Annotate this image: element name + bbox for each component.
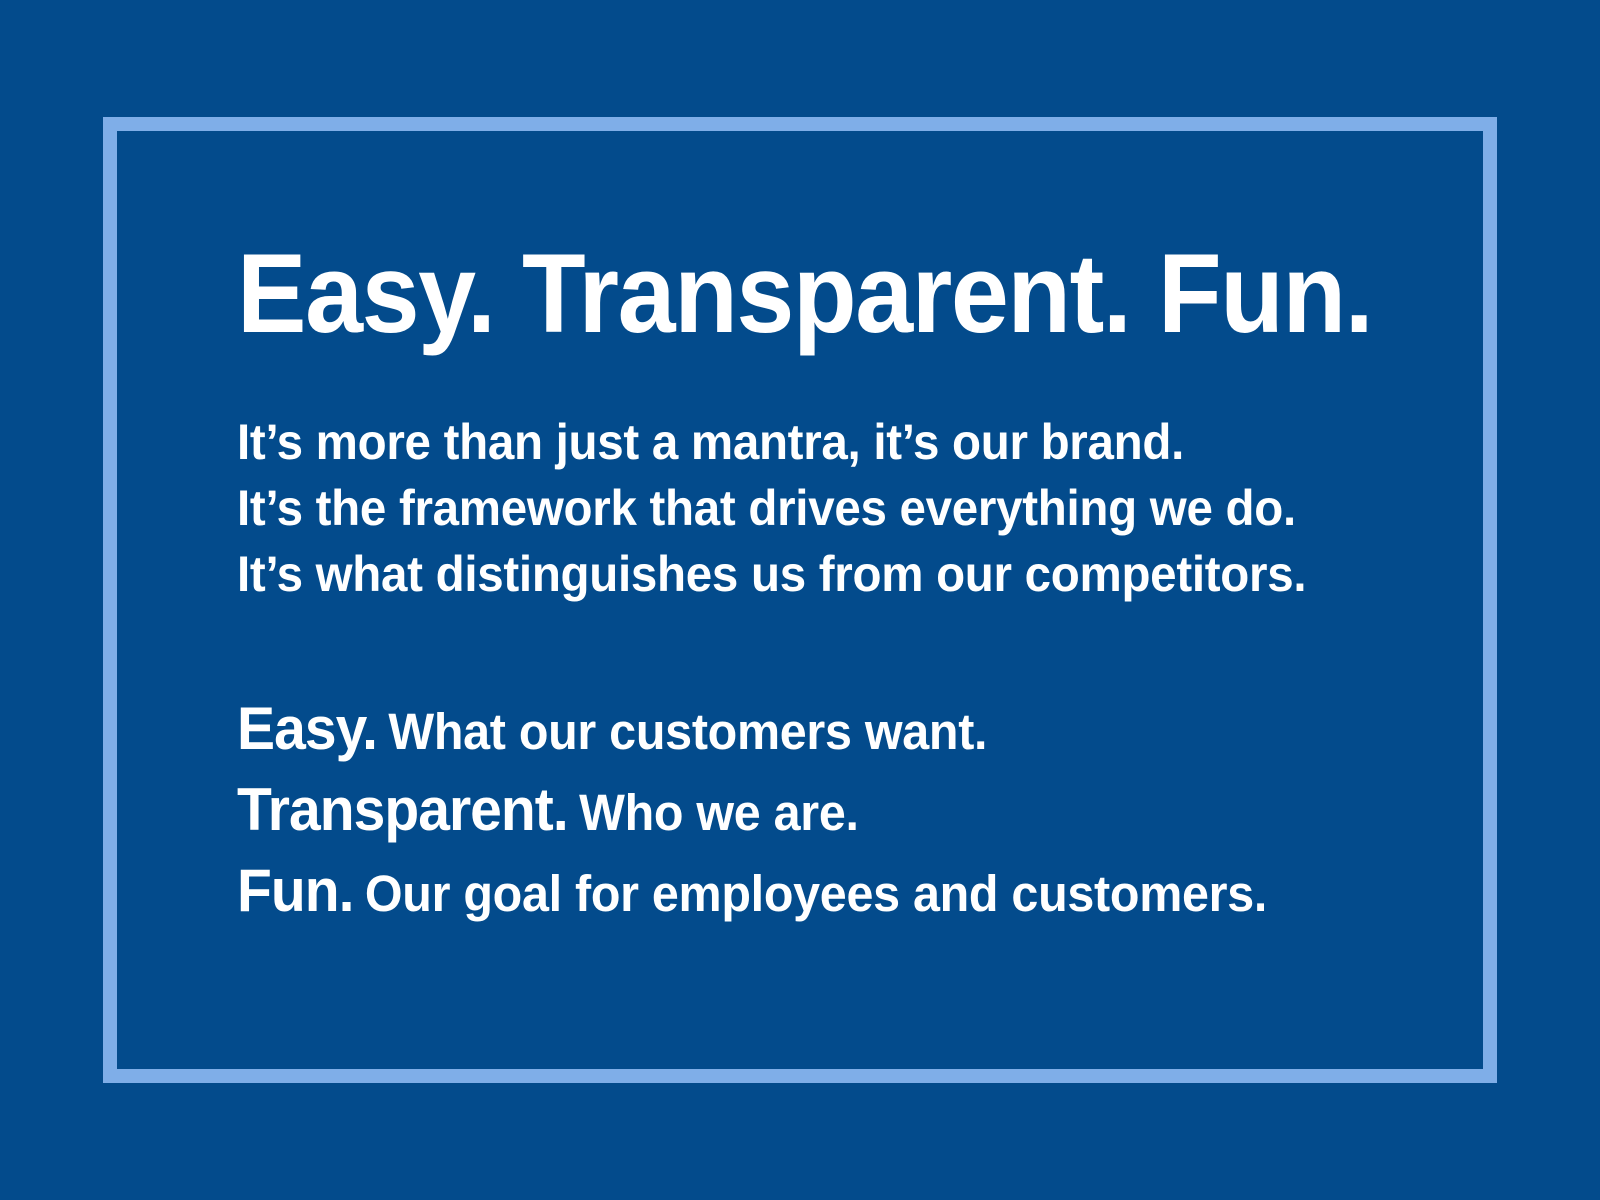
- definition-term-fun: Fun.: [237, 857, 353, 924]
- definition-item-fun: Fun.Our goal for employees and customers…: [237, 850, 1339, 931]
- definition-description-easy: What our customers want.: [377, 703, 987, 760]
- definition-term-transparent: Transparent.: [237, 776, 568, 843]
- intro-line-3: It’s what distinguishes us from our comp…: [237, 541, 1339, 607]
- brand-mantra-slide: Easy. Transparent. Fun. It’s more than j…: [0, 0, 1600, 1200]
- intro-line-2: It’s the framework that drives everythin…: [237, 475, 1339, 541]
- page-title: Easy. Transparent. Fun.: [237, 235, 1372, 353]
- definition-description-transparent: Who we are.: [568, 784, 859, 841]
- intro-line-1: It’s more than just a mantra, it’s our b…: [237, 409, 1339, 475]
- intro-paragraph: It’s more than just a mantra, it’s our b…: [237, 409, 1397, 607]
- definition-list: Easy.What our customers want. Transparen…: [237, 688, 1397, 931]
- definition-item-easy: Easy.What our customers want.: [237, 688, 1339, 769]
- definition-term-easy: Easy.: [237, 695, 377, 762]
- definition-description-fun: Our goal for employees and customers.: [353, 865, 1267, 922]
- definition-item-transparent: Transparent.Who we are.: [237, 769, 1339, 850]
